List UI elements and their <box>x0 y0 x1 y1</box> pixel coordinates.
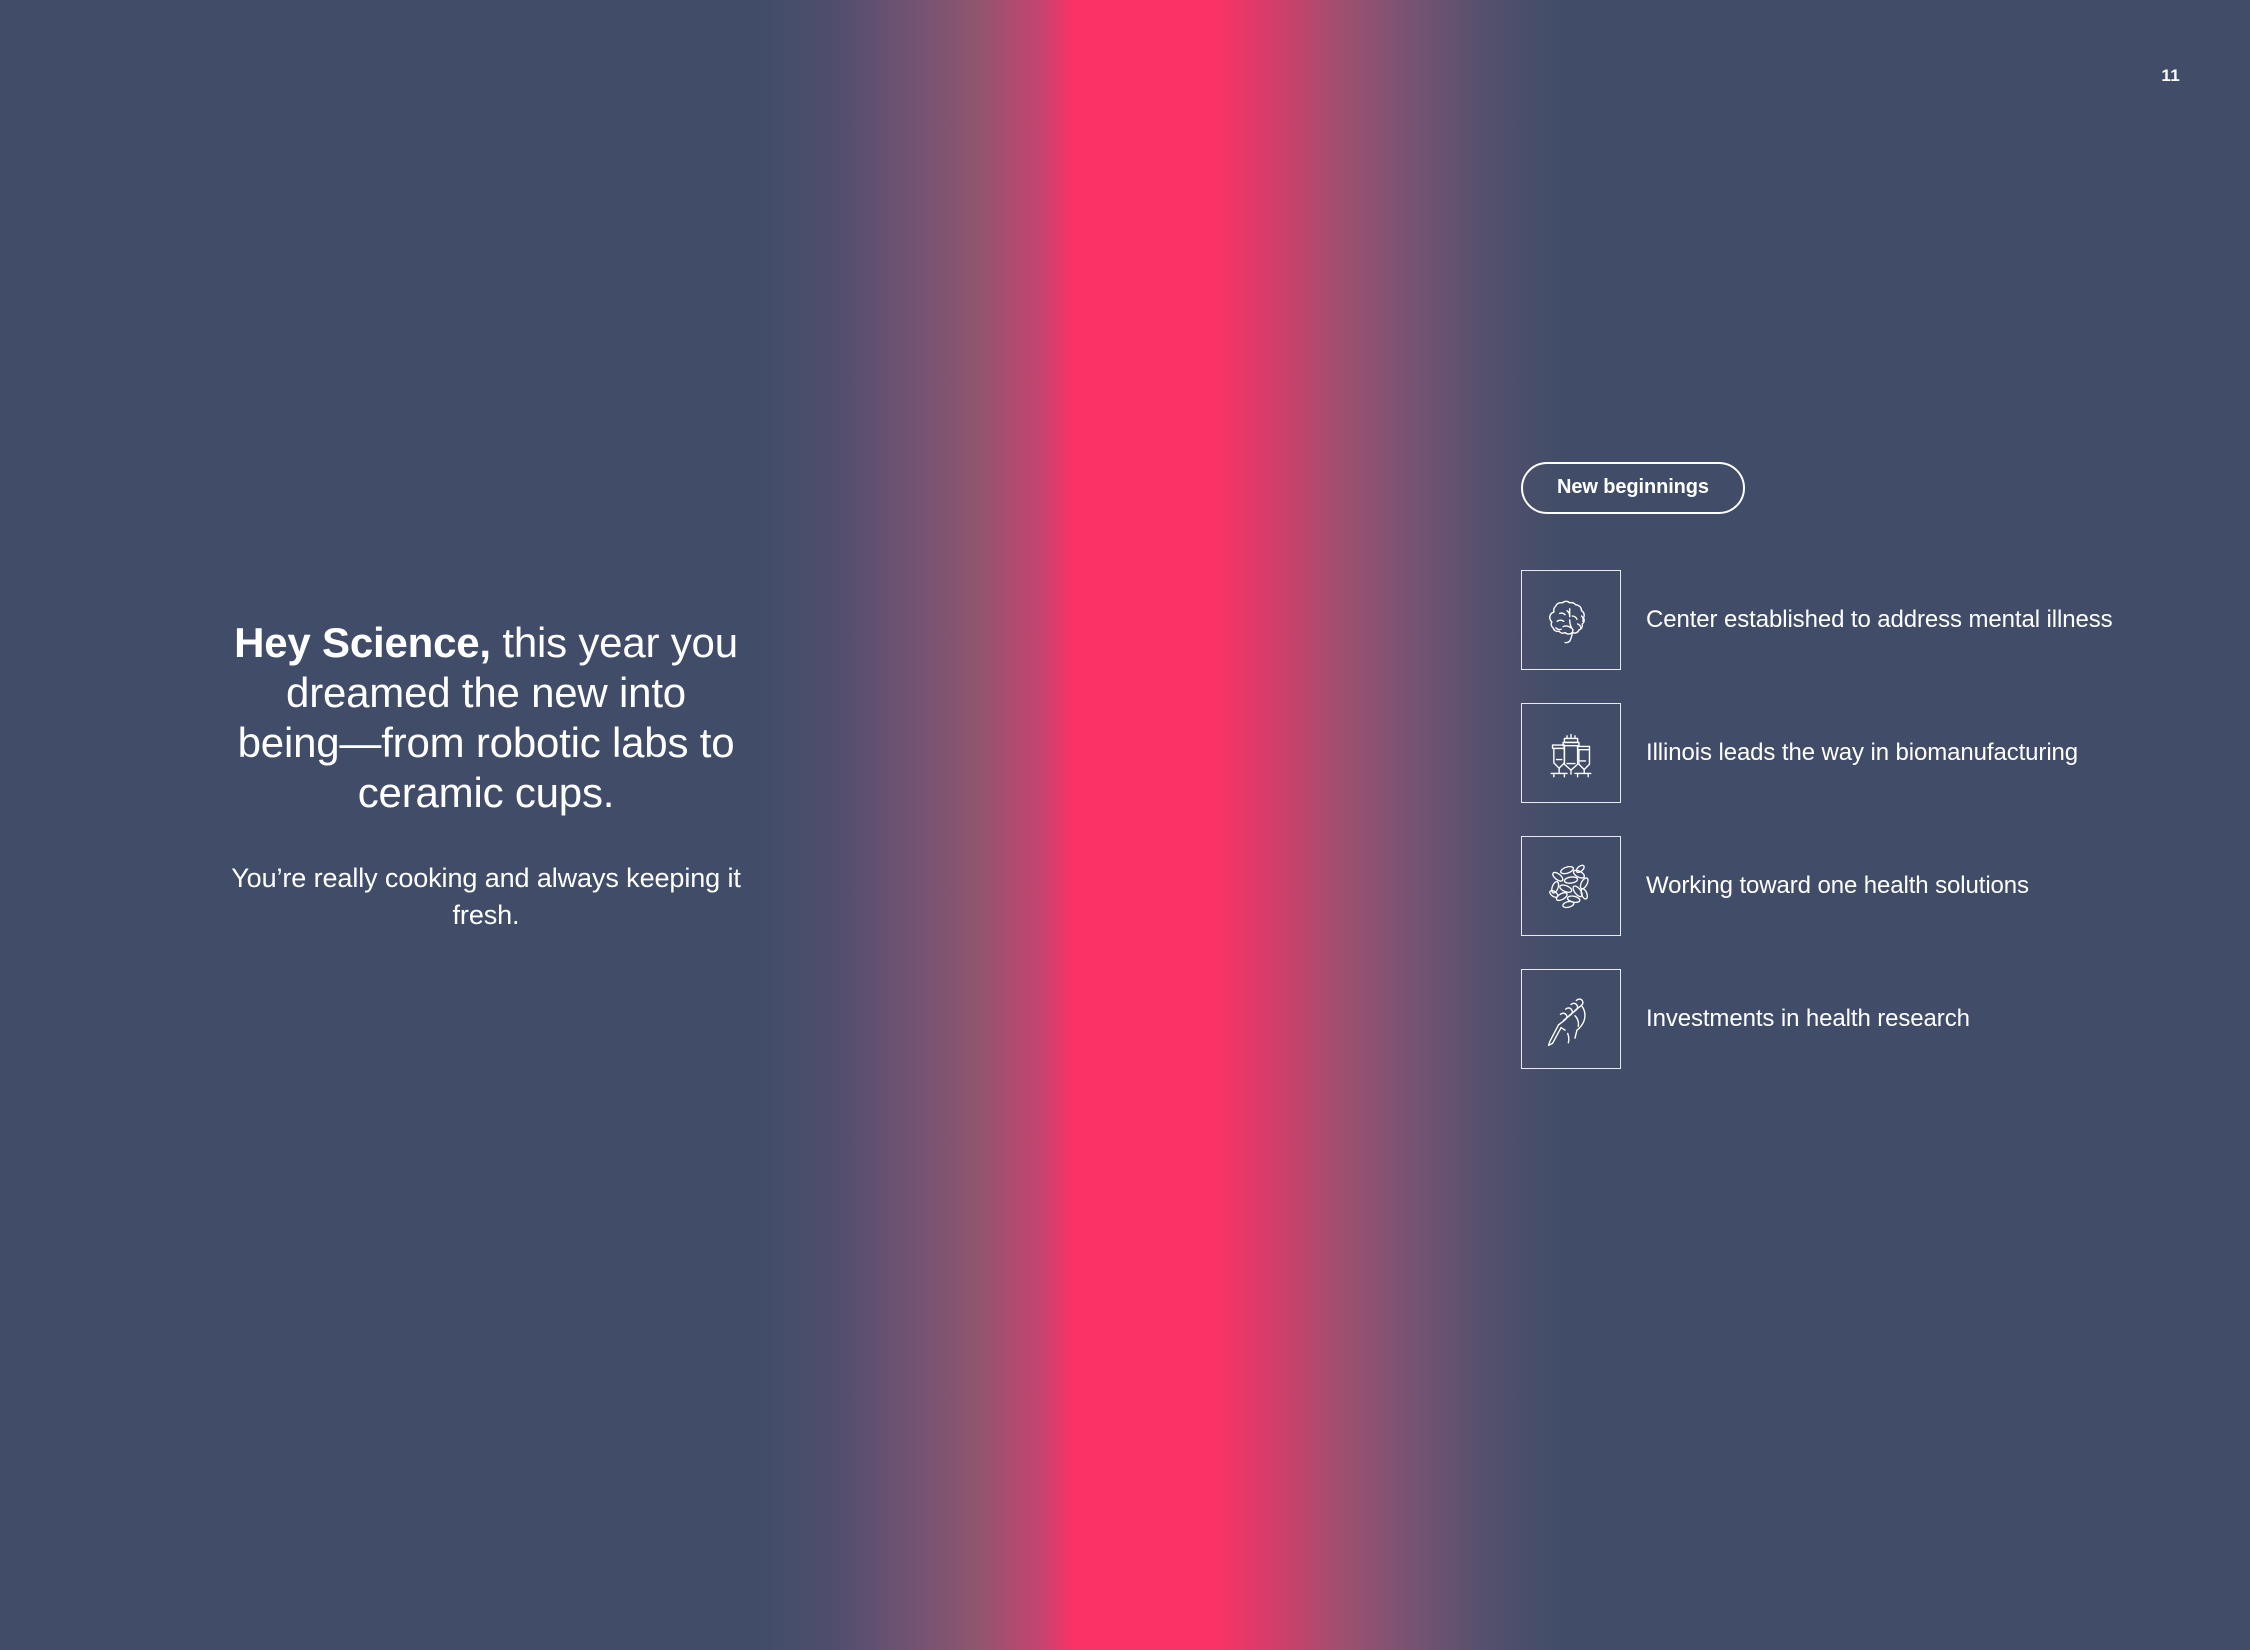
feature-label: Working toward one health solutions <box>1646 872 2029 900</box>
decorative-bar <box>803 1156 983 1185</box>
decorative-bar <box>589 1328 761 1357</box>
decorative-bar <box>694 1586 874 1615</box>
decorative-bar <box>315 1500 495 1529</box>
bacteria-cluster-icon <box>1521 836 1621 936</box>
decorative-bar <box>0 554 169 583</box>
decorative-bar <box>315 296 495 325</box>
decorative-bar <box>96 1156 276 1185</box>
decorative-bar <box>1211 898 1311 927</box>
right-panel: New beginnings Center established to add… <box>1521 462 2161 1102</box>
feature-row: Center established to address mental ill… <box>1521 570 2161 670</box>
decorative-bar <box>0 1070 169 1099</box>
page-number: 11 <box>2161 66 2180 86</box>
bioreactor-tanks-icon <box>1521 703 1621 803</box>
headline-subcopy: You’re really cooking and always keeping… <box>230 818 742 934</box>
decorative-bar <box>915 554 1095 583</box>
headline-block: Hey Science, this year you dreamed the n… <box>230 618 742 934</box>
feature-row: Investments in health research <box>1521 969 2161 1069</box>
decorative-bar <box>1021 640 1074 669</box>
decorative-bar <box>449 1414 630 1443</box>
decorative-bar <box>1211 726 1311 755</box>
decorative-bar <box>0 984 58 1013</box>
decorative-bar <box>206 1242 386 1271</box>
decorative-bar <box>1221 812 1401 841</box>
decorative-bar <box>206 382 386 411</box>
new-beginnings-badge: New beginnings <box>1521 462 1745 514</box>
decorative-bar <box>694 38 874 67</box>
decorative-bar <box>206 1586 386 1615</box>
decorative-bar <box>694 1242 874 1271</box>
decorative-bar <box>315 124 495 153</box>
decorative-bar <box>694 382 874 411</box>
decorative-bar <box>0 640 58 669</box>
decorative-bar <box>803 468 983 497</box>
decorative-bar <box>1021 984 1074 1013</box>
decorative-bar <box>315 1328 495 1357</box>
headline-lead: Hey Science, <box>234 619 491 666</box>
decorative-bar <box>589 296 761 325</box>
feature-label: Investments in health research <box>1646 1005 1970 1033</box>
feature-label: Illinois leads the way in biomanufacturi… <box>1646 739 2078 767</box>
decorative-bar <box>589 1500 761 1529</box>
decorative-bar <box>96 468 276 497</box>
decorative-bar <box>449 210 630 239</box>
feature-list: Center established to address mental ill… <box>1521 570 2161 1069</box>
feature-row: Illinois leads the way in biomanufacturi… <box>1521 703 2161 803</box>
feature-row: Working toward one health solutions <box>1521 836 2161 936</box>
page-title: Hey Science, this year you dreamed the n… <box>230 618 742 818</box>
decorative-bar <box>589 124 761 153</box>
decorative-bar <box>206 38 386 67</box>
feature-label: Center established to address mental ill… <box>1646 606 2113 634</box>
slide-canvas: 11 Hey Science, this year you dreamed th… <box>0 0 2250 1650</box>
hand-holding-pipette-icon <box>1521 969 1621 1069</box>
brain-icon <box>1521 570 1621 670</box>
decorative-bar <box>915 1070 1095 1099</box>
